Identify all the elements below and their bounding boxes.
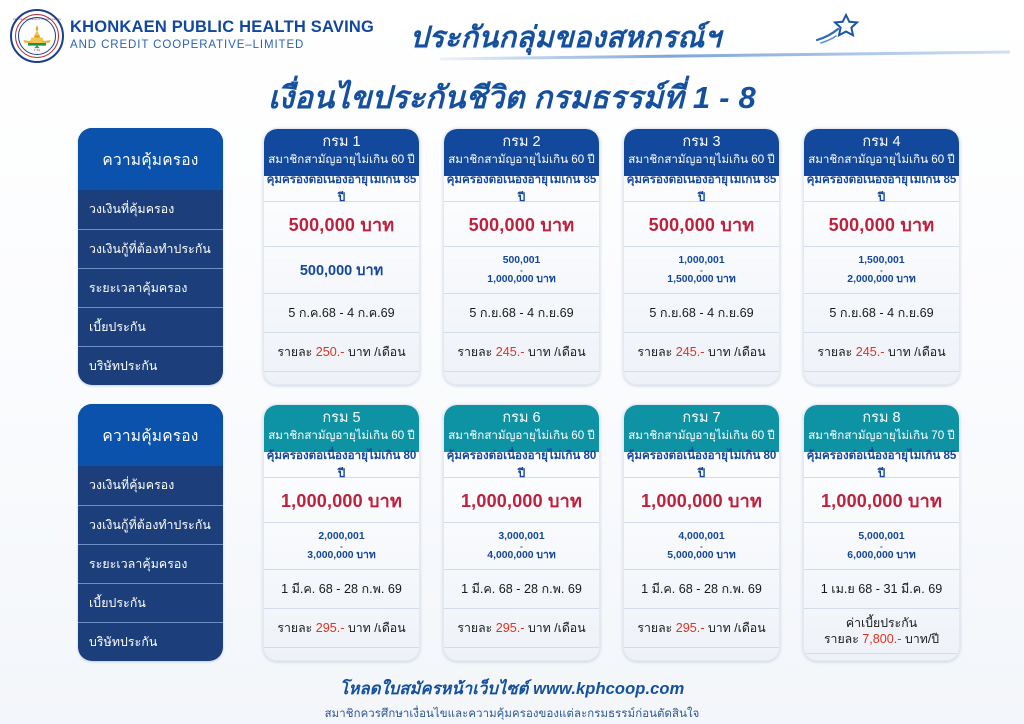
card-coverage-period: 1 มี.ค. 68 - 28 ก.พ. 69 xyxy=(264,569,419,608)
card-header: กรม 3 สมาชิกสามัญอายุไม่เกิน 60 ปี xyxy=(624,129,779,176)
card-sum-insured: 500,000 บาท xyxy=(804,201,959,246)
premium-label: รายละ xyxy=(457,621,492,635)
card-sum-insured: 1,000,000 บาท xyxy=(624,477,779,522)
card-header: กรม 8 สมาชิกสามัญอายุไม่เกิน 70 ปี xyxy=(804,405,959,452)
card-coverage-period: 5 ก.ย.68 - 4 ก.ย.69 xyxy=(444,293,599,332)
card-premium: รายละ 245.- บาท /เดือน xyxy=(804,332,959,371)
card-company: บางกอกสหประกันชีวิต xyxy=(624,371,779,385)
loan-single-value: 500,000 บาท xyxy=(300,259,383,282)
loan-range-from: 4,000,001 xyxy=(678,531,724,543)
premium-unit: บาท /เดือน xyxy=(708,621,766,635)
card-sum-insured: 500,000 บาท xyxy=(444,201,599,246)
card-sum-insured: 500,000 บาท xyxy=(264,201,419,246)
card-header: กรม 7 สมาชิกสามัญอายุไม่เกิน 60 ปี xyxy=(624,405,779,452)
loan-range-to: 1,500,000 บาท xyxy=(667,274,735,286)
card-sum-insured: 1,000,000 บาท xyxy=(264,477,419,522)
premium-label: รายละ xyxy=(277,621,312,635)
card-premium: ค่าเบี้ยประกัน รายละ 7,800.- บาท/ปี xyxy=(804,608,959,653)
card-member-condition: สมาชิกสามัญอายุไม่เกิน 60 ปี xyxy=(264,428,419,444)
brand-line-2: AND CREDIT COOPERATIVE–LIMITED xyxy=(70,39,374,51)
card-company: บางกอกสหประกันชีวิต xyxy=(804,371,959,385)
card-coverage-period: 5 ก.ย.68 - 4 ก.ย.69 xyxy=(804,293,959,332)
card-member-condition: สมาชิกสามัญอายุไม่เกิน 60 ปี xyxy=(264,152,419,168)
loan-range-dash: - xyxy=(520,267,523,274)
card-member-condition: สมาชิกสามัญอายุไม่เกิน 60 ปี xyxy=(624,428,779,444)
sum-insured-value: 1,000,000 บาท xyxy=(281,486,402,515)
legend-row-premium: เบี้ยประกัน xyxy=(78,583,223,622)
premium-amount: 7,800.- xyxy=(862,632,901,646)
page-footer: โหลดใบสมัครหน้าเว็บไซต์ www.kphcoop.com … xyxy=(0,676,1024,723)
card-coverage-age: คุ้มครองต่อเนื่องอายุไม่เกิน 85 ปี xyxy=(624,176,779,201)
policy-card[interactable]: กรม 8 สมาชิกสามัญอายุไม่เกิน 70 ปี คุ้มค… xyxy=(803,404,960,661)
card-premium: รายละ 250.- บาท /เดือน xyxy=(264,332,419,371)
legend-row-company: บริษัทประกัน xyxy=(78,622,223,661)
card-premium: รายละ 245.- บาท /เดือน xyxy=(444,332,599,371)
card-title: กรม 2 xyxy=(444,133,599,152)
loan-range-to: 4,000,000 บาท xyxy=(487,550,555,562)
sum-insured-value: 500,000 บาท xyxy=(469,210,575,239)
card-coverage-age: คุ้มครองต่อเนื่องอายุไม่เกิน 80 ปี xyxy=(624,452,779,477)
card-premium: รายละ 295.- บาท /เดือน xyxy=(444,608,599,647)
card-header: กรม 5 สมาชิกสามัญอายุไม่เกิน 60 ปี xyxy=(264,405,419,452)
premium-unit: บาท /เดือน xyxy=(708,345,766,359)
brand-line-1: KHONKAEN PUBLIC HEALTH SAVING xyxy=(70,18,374,37)
card-premium: รายละ 245.- บาท /เดือน xyxy=(624,332,779,371)
premium-amount: 295.- xyxy=(496,621,525,635)
premium-label: รายละ xyxy=(637,345,672,359)
card-title: กรม 6 xyxy=(444,409,599,428)
legend-row-sum-insured: วงเงินที่คุ้มครอง xyxy=(78,190,223,229)
card-coverage-age: คุ้มครองต่อเนื่องอายุไม่เกิน 80 ปี xyxy=(444,452,599,477)
loan-range-dash: - xyxy=(700,543,703,550)
card-sum-insured: 500,000 บาท xyxy=(624,201,779,246)
premium-label: รายละ xyxy=(277,345,312,359)
loan-range-to: 5,000,000 บาท xyxy=(667,550,735,562)
card-member-condition: สมาชิกสามัญอายุไม่เกิน 60 ปี xyxy=(444,152,599,168)
seal-top-text: สหกรณ์ออมทรัพย์สาธารณสุขขอนแก่น xyxy=(12,19,62,22)
card-title: กรม 5 xyxy=(264,409,419,428)
policy-card[interactable]: กรม 4 สมาชิกสามัญอายุไม่เกิน 60 ปี คุ้มค… xyxy=(803,128,960,385)
premium-unit: บาท/ปี xyxy=(905,632,939,646)
loan-range-to: 6,000,000 บาท xyxy=(847,550,915,562)
premium-amount: 245.- xyxy=(676,345,705,359)
seal-bottom-text: จำกัด xyxy=(12,50,62,53)
premium-amount: 295.- xyxy=(676,621,705,635)
card-loan-amount: 1,000,001 - 1,500,000 บาท xyxy=(624,246,779,293)
loan-range-dash: - xyxy=(880,267,883,274)
loan-range-to: 2,000,000 บาท xyxy=(847,274,915,286)
card-company: บางกอกสหประกันชีวิต xyxy=(444,371,599,385)
card-coverage-period: 1 มี.ค. 68 - 28 ก.พ. 69 xyxy=(444,569,599,608)
card-sum-insured: 1,000,000 บาท xyxy=(804,477,959,522)
card-coverage-period: 1 มี.ค. 68 - 28 ก.พ. 69 xyxy=(624,569,779,608)
brand-name: KHONKAEN PUBLIC HEALTH SAVING AND CREDIT… xyxy=(70,18,374,51)
footer-website-line[interactable]: โหลดใบสมัครหน้าเว็บไซต์ www.kphcoop.com xyxy=(0,676,1024,702)
premium-unit: บาท /เดือน xyxy=(348,621,406,635)
loan-range-dash: - xyxy=(520,543,523,550)
policy-card[interactable]: กรม 2 สมาชิกสามัญอายุไม่เกิน 60 ปี คุ้มค… xyxy=(443,128,600,385)
card-member-condition: สมาชิกสามัญอายุไม่เกิน 70 ปี xyxy=(804,428,959,444)
legend-row-loan-amount: วงเงินกู้ที่ต้องทำประกัน xyxy=(78,229,223,268)
infographic-page: สหกรณ์ออมทรัพย์สาธารณสุขขอนแก่น จำกัด KH… xyxy=(0,0,1024,724)
card-title: กรม 4 xyxy=(804,133,959,152)
policy-card[interactable]: กรม 5 สมาชิกสามัญอายุไม่เกิน 60 ปี คุ้มค… xyxy=(263,404,420,661)
card-header: กรม 6 สมาชิกสามัญอายุไม่เกิน 60 ปี xyxy=(444,405,599,452)
premium-amount: 295.- xyxy=(316,621,345,635)
card-loan-amount: 500,000 บาท xyxy=(264,246,419,293)
cooperative-seal-icon: สหกรณ์ออมทรัพย์สาธารณสุขขอนแก่น จำกัด xyxy=(10,9,64,63)
loan-range-dash: - xyxy=(700,267,703,274)
card-member-condition: สมาชิกสามัญอายุไม่เกิน 60 ปี xyxy=(444,428,599,444)
premium-label: รายละ xyxy=(457,345,492,359)
loan-range-from: 500,001 xyxy=(503,255,541,267)
card-coverage-period: 5 ก.ค.68 - 4 ก.ค.69 xyxy=(264,293,419,332)
card-premium: รายละ 295.- บาท /เดือน xyxy=(624,608,779,647)
sum-insured-value: 500,000 บาท xyxy=(649,210,755,239)
policy-card[interactable]: กรม 6 สมาชิกสามัญอายุไม่เกิน 60 ปี คุ้มค… xyxy=(443,404,600,661)
card-loan-amount: 2,000,001 - 3,000,000 บาท xyxy=(264,522,419,569)
sum-insured-value: 500,000 บาท xyxy=(289,210,395,239)
loan-range-from: 3,000,001 xyxy=(498,531,544,543)
legend-row-coverage-period: ระยะเวลาคุ้มครอง xyxy=(78,544,223,583)
card-company: ไทยประกันชีวิต xyxy=(624,647,779,661)
legend-header: ความคุ้มครอง xyxy=(78,128,223,190)
card-loan-amount: 4,000,001 - 5,000,000 บาท xyxy=(624,522,779,569)
legend-row-loan-amount: วงเงินกู้ที่ต้องทำประกัน xyxy=(78,505,223,544)
legend-row-coverage-period: ระยะเวลาคุ้มครอง xyxy=(78,268,223,307)
loan-range-dash: - xyxy=(880,543,883,550)
sum-insured-value: 1,000,000 บาท xyxy=(641,486,762,515)
card-coverage-age: คุ้มครองต่อเนื่องอายุไม่เกิน 85 ปี xyxy=(264,176,419,201)
loan-range-from: 2,000,001 xyxy=(318,531,364,543)
premium-label: รายละ xyxy=(817,345,852,359)
legend-row-sum-insured: วงเงินที่คุ้มครอง xyxy=(78,466,223,505)
card-loan-amount: 500,001 - 1,000,000 บาท xyxy=(444,246,599,293)
card-title: กรม 7 xyxy=(624,409,779,428)
premium-amount: 245.- xyxy=(496,345,525,359)
page-title: เงื่อนไขประกันชีวิต กรมธรรม์ที่ 1 - 8 xyxy=(0,72,1024,122)
loan-range-to: 3,000,000 บาท xyxy=(307,550,375,562)
card-header: กรม 1 สมาชิกสามัญอายุไม่เกิน 60 ปี xyxy=(264,129,419,176)
card-member-condition: สมาชิกสามัญอายุไม่เกิน 60 ปี xyxy=(624,152,779,168)
card-loan-amount: 1,500,001 - 2,000,000 บาท xyxy=(804,246,959,293)
card-coverage-period: 5 ก.ย.68 - 4 ก.ย.69 xyxy=(624,293,779,332)
page-header: สหกรณ์ออมทรัพย์สาธารณสุขขอนแก่น จำกัด KH… xyxy=(0,0,1024,120)
card-coverage-age: คุ้มครองต่อเนื่องอายุไม่เกิน 85 ปี xyxy=(804,176,959,201)
card-header: กรม 4 สมาชิกสามัญอายุไม่เกิน 60 ปี xyxy=(804,129,959,176)
premium-unit: บาท /เดือน xyxy=(528,621,586,635)
card-member-condition: สมาชิกสามัญอายุไม่เกิน 60 ปี xyxy=(804,152,959,168)
card-loan-amount: 3,000,001 - 4,000,000 บาท xyxy=(444,522,599,569)
card-premium: รายละ 295.- บาท /เดือน xyxy=(264,608,419,647)
premium-label: รายละ xyxy=(637,621,672,635)
premium-unit: บาท /เดือน xyxy=(888,345,946,359)
policy-card[interactable]: กรม 1 สมาชิกสามัญอายุไม่เกิน 60 ปี คุ้มค… xyxy=(263,128,420,385)
loan-range-from: 5,000,001 xyxy=(858,531,904,543)
stupa-emblem-icon xyxy=(22,24,52,50)
loan-range-from: 1,000,001 xyxy=(678,255,724,267)
sum-insured-value: 500,000 บาท xyxy=(829,210,935,239)
legend-header: ความคุ้มครอง xyxy=(78,404,223,466)
premium-amount: 250.- xyxy=(316,345,345,359)
card-coverage-age: คุ้มครองต่อเนื่องอายุไม่เกิน 85 ปี xyxy=(804,452,959,477)
card-company: ไทยประกันชีวิต xyxy=(444,647,599,661)
card-coverage-period: 1 เม.ย 68 - 31 มี.ค. 69 xyxy=(804,569,959,608)
policy-card[interactable]: กรม 7 สมาชิกสามัญอายุไม่เกิน 60 ปี คุ้มค… xyxy=(623,404,780,661)
sum-insured-value: 1,000,000 บาท xyxy=(821,486,942,515)
card-title: กรม 8 xyxy=(804,409,959,428)
card-sum-insured: 1,000,000 บาท xyxy=(444,477,599,522)
premium-heading: ค่าเบี้ยประกัน xyxy=(846,615,917,631)
premium-unit: บาท /เดือน xyxy=(528,345,586,359)
card-company: ไทยสมุทรประกันชีวิต xyxy=(264,371,419,385)
loan-range-from: 1,500,001 xyxy=(858,255,904,267)
card-header: กรม 2 สมาชิกสามัญอายุไม่เกิน 60 ปี xyxy=(444,129,599,176)
coverage-legend: ความคุ้มครอง วงเงินที่คุ้มครอง วงเงินกู้… xyxy=(78,404,223,661)
card-company: ไทยสมุทรประกันชีวิต xyxy=(804,653,959,661)
card-title: กรม 1 xyxy=(264,133,419,152)
sum-insured-value: 1,000,000 บาท xyxy=(461,486,582,515)
coverage-legend: ความคุ้มครอง วงเงินที่คุ้มครอง วงเงินกู้… xyxy=(78,128,223,385)
footer-disclaimer: สมาชิกควรศึกษาเงื่อนไขและความคุ้มครองของ… xyxy=(0,705,1024,723)
shooting-star-icon xyxy=(816,12,862,46)
legend-row-company: บริษัทประกัน xyxy=(78,346,223,385)
card-company: ไทยประกันชีวิต xyxy=(264,647,419,661)
premium-label: รายละ xyxy=(824,632,859,646)
card-coverage-age: คุ้มครองต่อเนื่องอายุไม่เกิน 85 ปี xyxy=(444,176,599,201)
card-title: กรม 3 xyxy=(624,133,779,152)
premium-unit: บาท /เดือน xyxy=(348,345,406,359)
legend-row-premium: เบี้ยประกัน xyxy=(78,307,223,346)
card-loan-amount: 5,000,001 - 6,000,000 บาท xyxy=(804,522,959,569)
premium-amount: 245.- xyxy=(856,345,885,359)
policy-card[interactable]: กรม 3 สมาชิกสามัญอายุไม่เกิน 60 ปี คุ้มค… xyxy=(623,128,780,385)
header-kicker: ประกันกลุ่มของสหกรณ์ฯ xyxy=(410,14,721,60)
loan-range-to: 1,000,000 บาท xyxy=(487,274,555,286)
cooperative-logo: สหกรณ์ออมทรัพย์สาธารณสุขขอนแก่น จำกัด xyxy=(10,9,64,63)
card-coverage-age: คุ้มครองต่อเนื่องอายุไม่เกิน 80 ปี xyxy=(264,452,419,477)
loan-range-dash: - xyxy=(340,543,343,550)
